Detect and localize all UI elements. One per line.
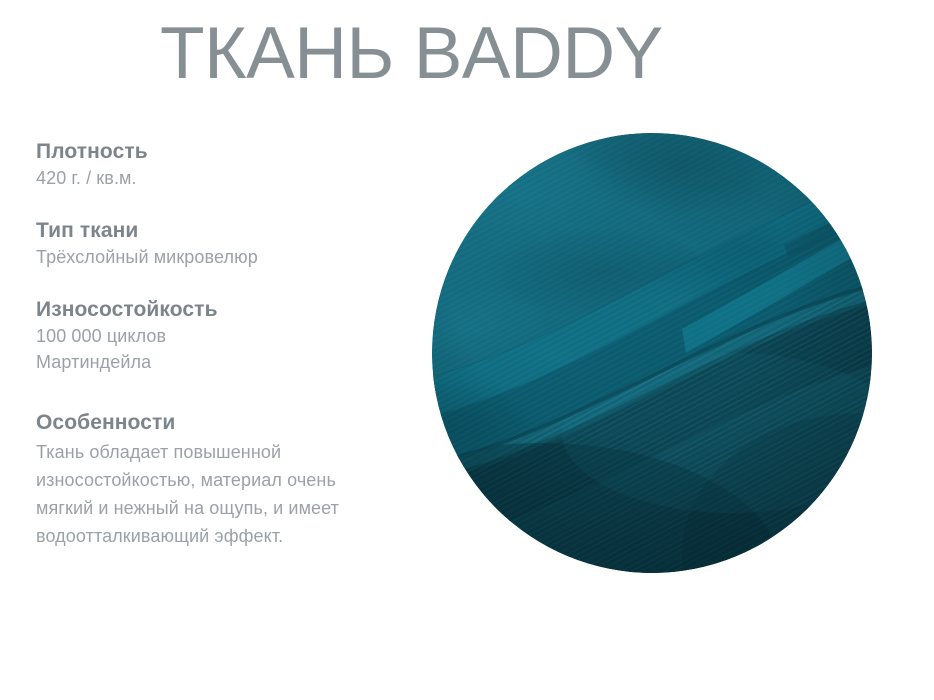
spec-item-density: Плотность 420 г. / кв.м. <box>36 138 396 191</box>
fabric-swatch-image <box>432 133 872 573</box>
spec-value-durability: 100 000 циклов Мартиндейла <box>36 323 396 375</box>
spec-label-durability: Износостойкость <box>36 296 396 323</box>
spec-value-fabric-type: Трёхслойный микровелюр <box>36 244 396 270</box>
spec-label-density: Плотность <box>36 138 396 165</box>
spec-value-features: Ткань обладает повышенной износостойкост… <box>36 438 396 550</box>
spec-item-durability: Износостойкость 100 000 циклов Мартиндей… <box>36 296 396 375</box>
spec-list: Плотность 420 г. / кв.м. Тип ткани Трёхс… <box>36 138 396 550</box>
page-title-part-light: ТКАНЬ <box>160 13 414 94</box>
spec-label-features: Особенности <box>36 409 396 436</box>
fabric-spec-slide: ТКАНЬ BADDY Плотность 420 г. / кв.м. Тип… <box>0 0 934 700</box>
page-title: ТКАНЬ BADDY <box>160 14 663 94</box>
page-title-part-bold: BADDY <box>414 13 663 94</box>
spec-item-features: Особенности Ткань обладает повышенной из… <box>36 409 396 550</box>
spec-value-density: 420 г. / кв.м. <box>36 165 396 191</box>
fabric-illustration <box>432 133 872 573</box>
spec-item-fabric-type: Тип ткани Трёхслойный микровелюр <box>36 217 396 270</box>
spec-label-fabric-type: Тип ткани <box>36 217 396 244</box>
